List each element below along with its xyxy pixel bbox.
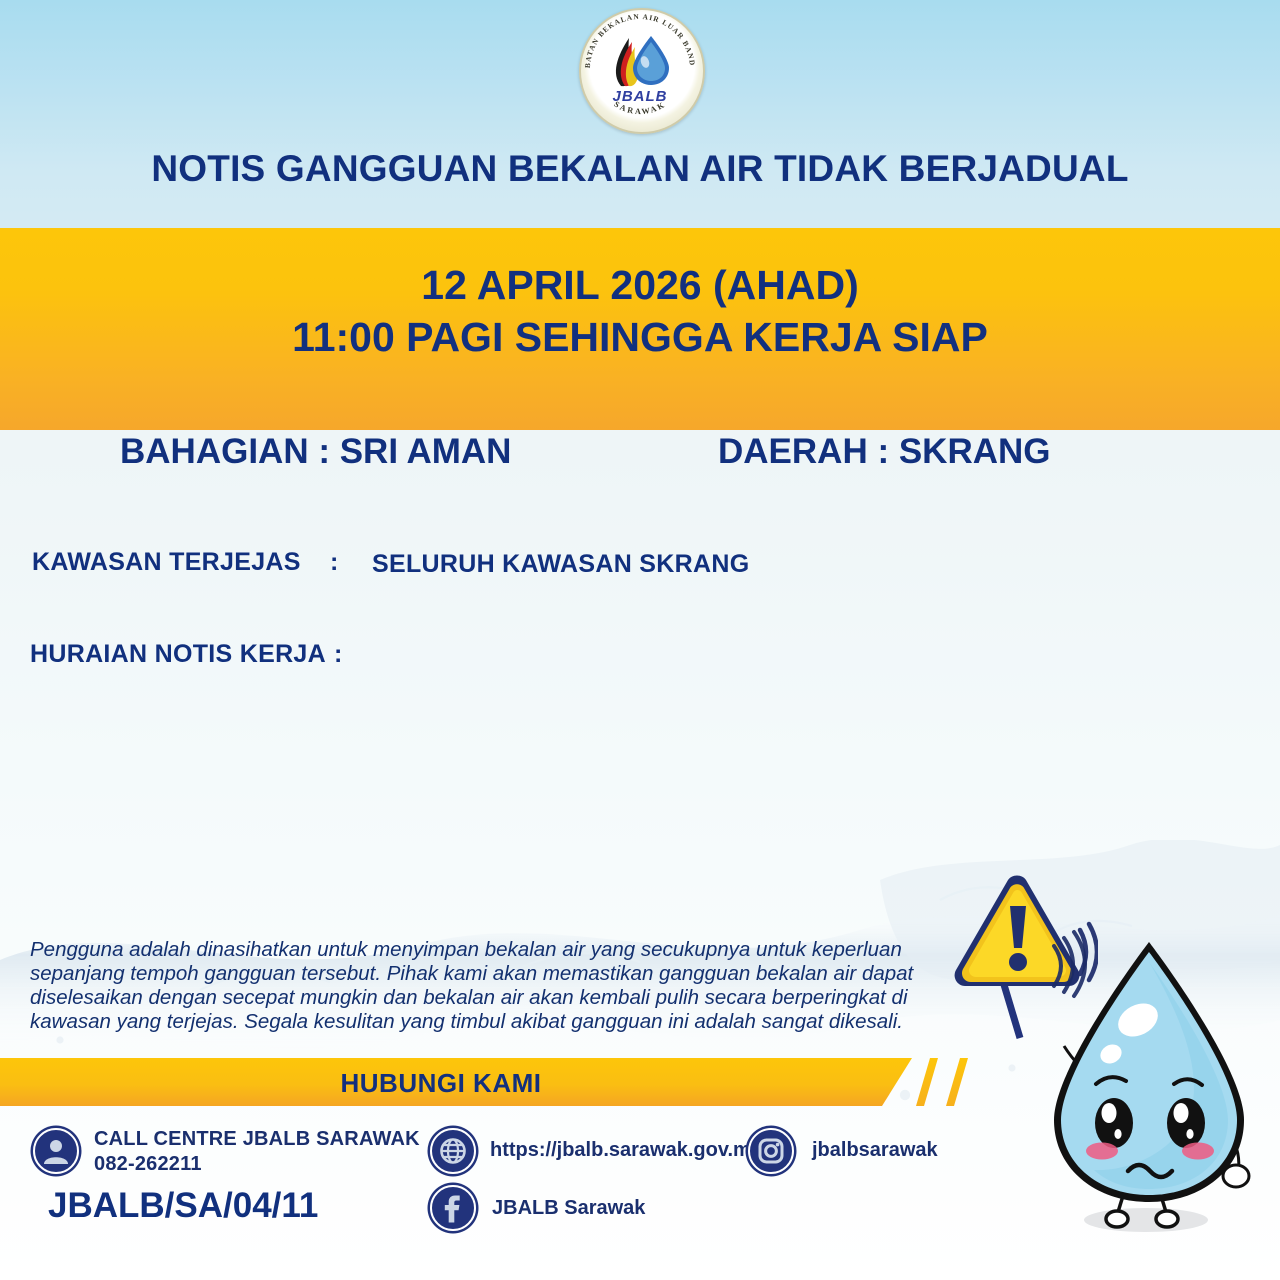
contact-banner: HUBUNGI KAMI [0,1058,912,1106]
instagram-handle[interactable]: jbalbsarawak [812,1139,938,1162]
huraian-notis-kerja-label: HURAIAN NOTIS KERJA [30,640,326,669]
person-icon [33,1128,79,1174]
water-drop-mascot-icon [1018,928,1280,1248]
call-centre-number[interactable]: 082-262211 [94,1153,202,1176]
daerah-label: DAERAH : SKRANG [718,432,1051,472]
facebook-icon[interactable] [430,1185,476,1231]
bahagian-label: BAHAGIAN : SRI AMAN [120,432,511,472]
advisory-line: sepanjang tempoh gangguan tersebut. Piha… [30,962,910,986]
globe-icon[interactable] [430,1128,476,1174]
date-band: 12 APRIL 2026 (AHAD) 11:00 PAGI SEHINGGA… [0,228,1280,430]
advisory-paragraph: Pengguna adalah dinasihatkan untuk menyi… [30,938,910,1034]
kawasan-terjejas-label: KAWASAN TERJEJAS [32,548,301,577]
page-title: NOTIS GANGGUAN BEKALAN AIR TIDAK BERJADU… [0,148,1280,190]
kawasan-terjejas-colon: : [330,548,338,577]
advisory-line: diselesaikan dengan secepat mungkin dan … [30,986,910,1010]
logo-wordmark: JBALB [579,88,701,105]
advisory-line: Pengguna adalah dinasihatkan untuk menyi… [30,938,910,962]
outage-date: 12 APRIL 2026 (AHAD) [0,262,1280,309]
reference-number: JBALB/SA/04/11 [48,1186,318,1226]
banner-stripe-2 [946,1058,968,1106]
contact-banner-label: HUBUNGI KAMI [0,1068,882,1099]
header-band: JABATAN BEKALAN AIR LUAR BANDAR SARAWAK … [0,0,1280,228]
banner-stripe-1 [916,1058,938,1106]
logo-drop-flame-icon [603,30,677,92]
call-centre-name: CALL CENTRE JBALB SARAWAK [94,1128,420,1151]
advisory-line: kawasan yang terjejas. Segala kesulitan … [30,1010,910,1034]
notice-poster: JABATAN BEKALAN AIR LUAR BANDAR SARAWAK … [0,0,1280,1280]
instagram-icon[interactable] [748,1128,794,1174]
kawasan-terjejas-value: SELURUH KAWASAN SKRANG [372,550,749,579]
website-url[interactable]: https://jbalb.sarawak.gov.my/ [490,1139,767,1162]
facebook-handle[interactable]: JBALB Sarawak [492,1197,645,1220]
huraian-notis-kerja-colon: : [334,640,342,669]
jbalb-logo: JABATAN BEKALAN AIR LUAR BANDAR SARAWAK … [579,8,701,130]
division-row: BAHAGIAN : SRI AMAN DAERAH : SKRANG [0,432,1280,492]
outage-time: 11:00 PAGI SEHINGGA KERJA SIAP [0,314,1280,361]
